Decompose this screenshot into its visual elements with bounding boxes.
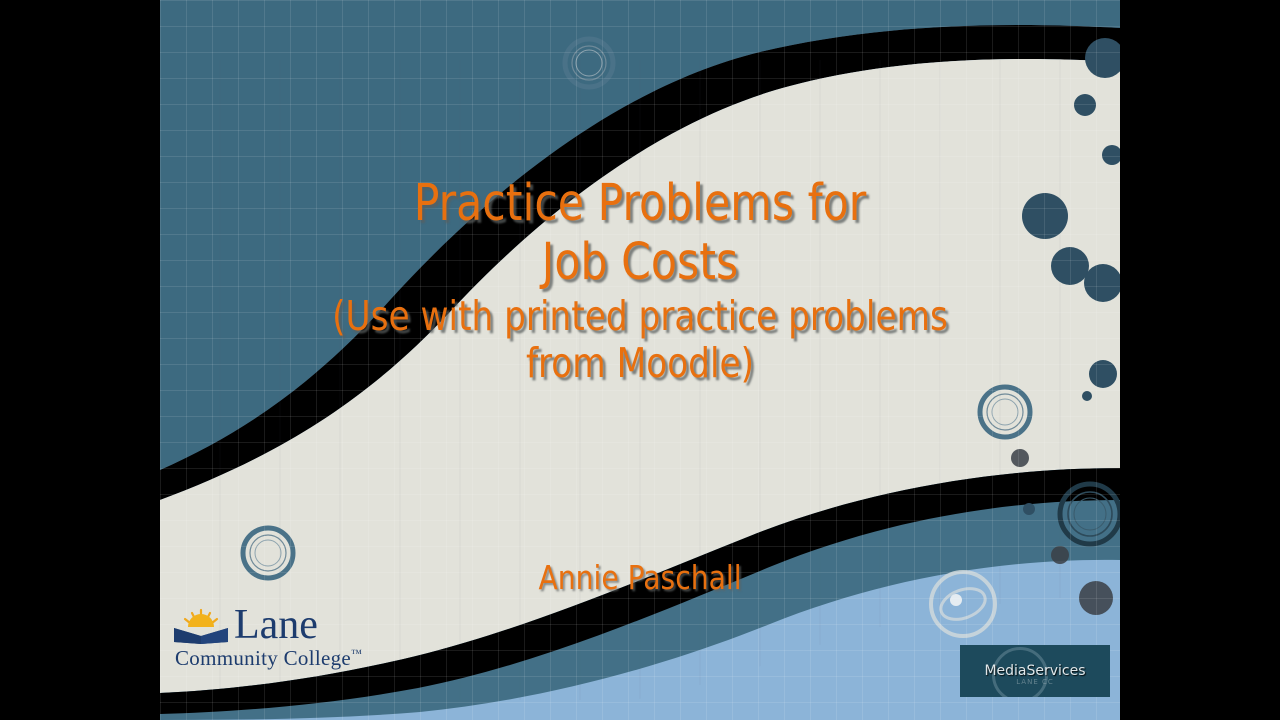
slide-subtitle-line-1: (Use with printed practice problems (194, 296, 1087, 337)
open-book-sunrise-icon (172, 608, 230, 646)
slide-title-line-1: Practice Problems for (194, 178, 1087, 229)
logo-subtitle: Community College™ (175, 646, 362, 671)
slide-title-block: Practice Problems for Job Costs (Use wit… (160, 178, 1120, 384)
presentation-slide: Practice Problems for Job Costs (Use wit… (160, 0, 1120, 720)
slide-subtitle-line-2: from Moodle) (194, 343, 1087, 384)
watermark-label: MediaServices (960, 663, 1110, 679)
watermark-sublabel: LANE CC (960, 678, 1110, 686)
mediaservices-watermark: MediaServices LANE CC (960, 645, 1110, 697)
logo-subtitle-text: Community College (175, 646, 351, 670)
video-player-frame: Practice Problems for Job Costs (Use wit… (0, 0, 1280, 720)
logo-wordmark: Lane (234, 604, 318, 646)
logo-trademark: ™ (351, 648, 362, 660)
presenter-name: Annie Paschall (184, 558, 1096, 597)
slide-title-line-2: Job Costs (194, 237, 1087, 288)
lane-community-college-logo: Lane Community College™ (172, 608, 372, 672)
pillarbox-right (1120, 0, 1280, 720)
pillarbox-left (0, 0, 160, 720)
